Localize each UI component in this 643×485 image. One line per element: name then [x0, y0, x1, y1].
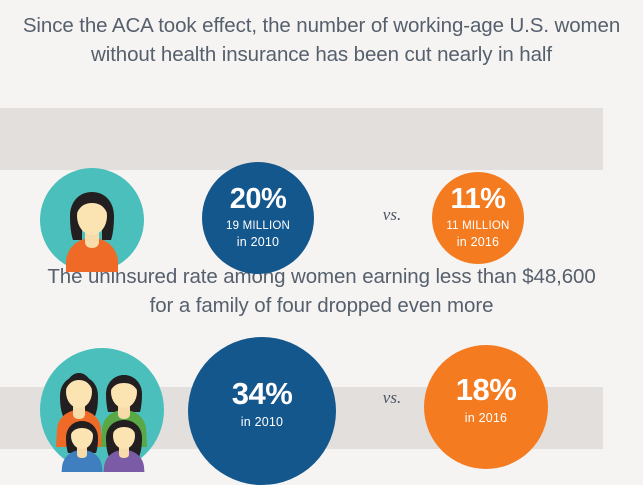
stat-count-label: 11 MILLION	[446, 219, 509, 233]
stat-year-label: in 2016	[465, 411, 507, 427]
stat-circle-2016-low-income-rate: 18% in 2016	[424, 345, 548, 469]
stat-percent-value: 34%	[232, 378, 293, 409]
family-of-four-svg	[40, 348, 164, 472]
woman-avatar-icon	[40, 168, 144, 272]
family-of-four-icon	[40, 348, 164, 472]
section-one-chart: 20% 19 MILLION in 2010 vs. 11% 11 MILLIO…	[0, 80, 643, 200]
stat-percent-value: 20%	[230, 185, 287, 214]
stat-year-label: in 2010	[237, 235, 279, 251]
infographic-canvas: Since the ACA took effect, the number of…	[0, 0, 643, 429]
section-one-headline: Since the ACA took effect, the number of…	[0, 11, 643, 69]
stat-year-label: in 2010	[241, 415, 283, 431]
stat-circle-2016-uninsured-rate: 11% 11 MILLION in 2016	[432, 172, 524, 264]
stat-percent-value: 11%	[451, 185, 506, 214]
stat-circle-2010-uninsured-rate: 20% 19 MILLION in 2010	[202, 162, 314, 274]
versus-separator: vs.	[357, 388, 427, 408]
connector-band	[0, 108, 603, 170]
stat-year-label: in 2016	[457, 235, 499, 251]
woman-avatar-svg	[40, 168, 144, 272]
stat-circle-2010-low-income-rate: 34% in 2010	[188, 337, 336, 485]
stat-percent-value: 18%	[456, 374, 517, 405]
stat-count-label: 19 MILLION	[226, 219, 290, 233]
versus-separator: vs.	[357, 205, 427, 225]
